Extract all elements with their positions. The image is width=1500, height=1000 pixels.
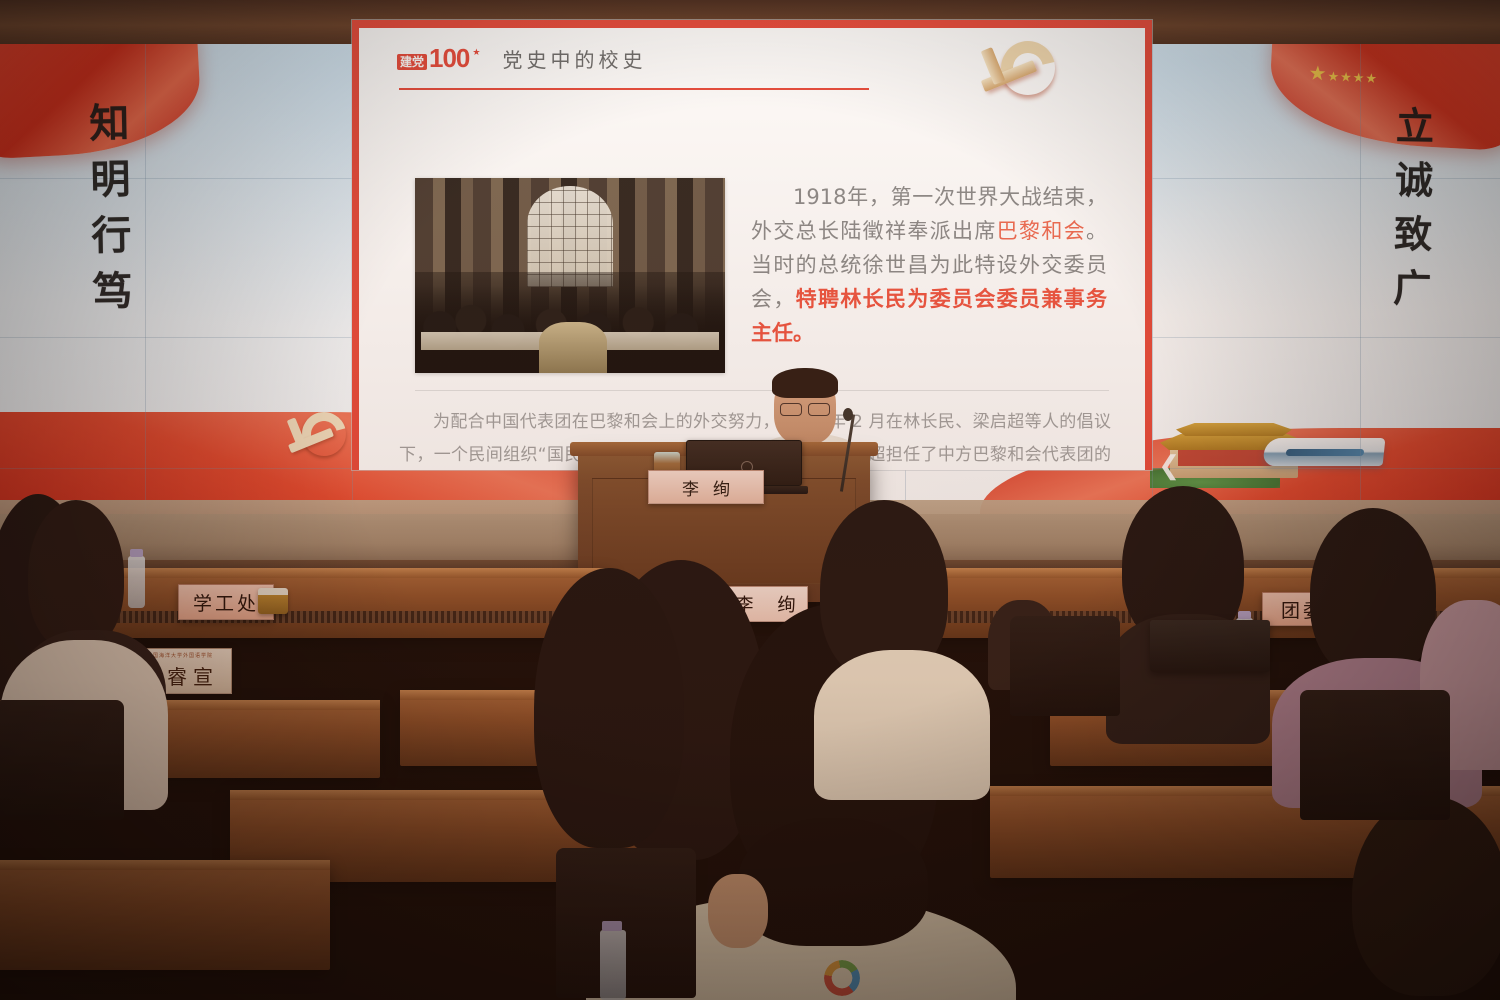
paragraph-highlight2: 特聘林长民为委员会委员兼事务主任。 [751, 287, 1107, 345]
eyeglasses-icon [780, 403, 830, 414]
water-bottle-left [128, 556, 145, 608]
slide-header-rule [399, 88, 869, 90]
office-chair-mid [1010, 616, 1120, 716]
nameplate-org-line: 中国海洋大学外国语学院 [147, 652, 213, 659]
tiananmen-train-graphic [1150, 400, 1380, 496]
office-chair-left [0, 700, 124, 820]
calligraphy-left: 知明行笃 [76, 102, 138, 327]
shirt-logo-icon [824, 960, 860, 996]
calligraphy-right: 立诚致广 [1381, 106, 1440, 323]
slide-paragraph-right: 1918年，第一次世界大战结束，外交总长陆徵祥奉派出席巴黎和会。当时的总统徐世昌… [751, 180, 1107, 350]
microphone-head-icon [843, 408, 853, 421]
podium-nameplate: 李 绚 [648, 470, 764, 504]
flag-stars-icon: ★★★★★ [1308, 63, 1379, 87]
cpc-100th-anniversary-logo: 建党 100 ★ [397, 47, 480, 70]
cpc-emblem-icon [286, 410, 350, 462]
audience-desk-row4-left [0, 860, 330, 970]
next-slide-chevron-icon[interactable]: ❮ [1158, 450, 1180, 481]
slide-border-right [1145, 20, 1152, 470]
teacup-with-lid [258, 588, 288, 614]
podium-nameplate-surname: 李 [682, 475, 699, 500]
versailles-treaty-painting [415, 178, 725, 373]
paragraph-highlight1: 巴黎和会 [997, 219, 1086, 243]
slide-border-top [352, 20, 1152, 28]
logo-star-icon: ★ [472, 47, 480, 58]
slide-header: 建党 100 ★ 党史中的校史 [397, 44, 646, 73]
office-chair-center [556, 848, 696, 998]
slide-title: 党史中的校史 [502, 44, 646, 73]
water-bottle-foreground [600, 930, 626, 1000]
slide-border-left [352, 20, 359, 470]
logo-number: 100 [429, 47, 469, 70]
slide-cpc-emblem-icon [979, 38, 1061, 104]
logo-prefix: 建党 [397, 54, 427, 71]
podium-nameplate-given: 绚 [713, 475, 730, 500]
office-chair-right [1300, 690, 1450, 820]
ear-and-neck [708, 874, 768, 948]
audience-laptop[interactable] [1150, 620, 1270, 672]
conference-room-scene: ★★★★★ 知明行笃 立诚致广 [0, 0, 1500, 1000]
